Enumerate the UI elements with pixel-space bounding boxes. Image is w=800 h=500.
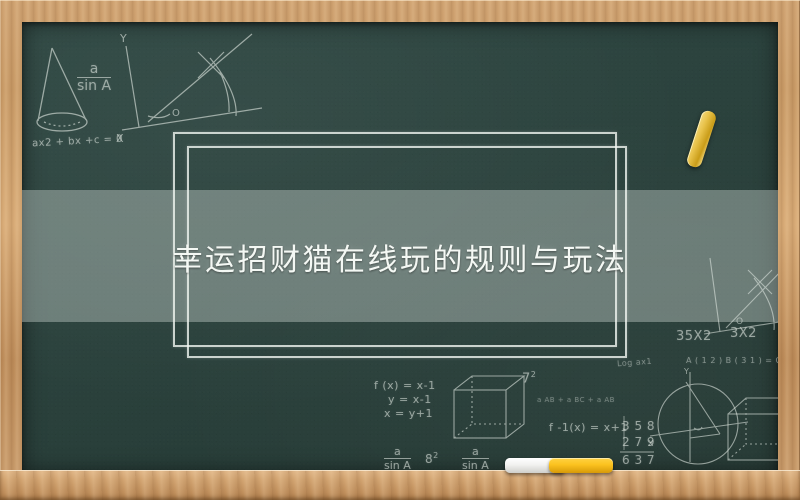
axis-label-y: Y <box>119 32 127 45</box>
chalk-ledge <box>0 470 800 500</box>
formula-log-ax: Log ax1 <box>617 357 653 368</box>
seven-exponent: 2 <box>531 370 537 379</box>
formula-seven-squared: 72 <box>522 370 536 386</box>
fraction-a-over-sinA-3: a sin A <box>462 446 489 472</box>
chalkboard-banner: a sin A Y X O <box>0 0 800 500</box>
fraction-bar <box>384 458 411 459</box>
eight-base: 8 <box>425 452 433 466</box>
angle-label-o: O <box>172 108 180 119</box>
formula-mult-3x2: 3X2 <box>730 326 757 341</box>
formula-function-line3: x = y+1 <box>384 407 433 420</box>
formula-function-line1: f (x) = x-1 <box>374 379 436 392</box>
formula-set-expression: a AB + a BC + a AB <box>537 396 615 404</box>
yellow-chalk-stick[interactable] <box>549 458 613 473</box>
cube-wireframe-left <box>446 372 532 450</box>
formula-matrix-expression: A ( 1 2 ) B ( 3 1 ) = C ( 4 3 ) <box>686 356 778 365</box>
formula-function-line2: y = x-1 <box>388 393 432 406</box>
fraction-a-over-sinA-2: a sin A <box>384 446 411 472</box>
fraction-bar <box>462 458 489 459</box>
cube-wireframe-right <box>722 394 778 470</box>
page-title: 幸运招财猫在线玩的规则与玩法 <box>173 235 628 279</box>
seven-base: 7 <box>522 371 531 386</box>
formula-eight-squared: 82 <box>425 451 439 466</box>
eight-exponent: 2 <box>433 451 439 460</box>
fraction-numerator: a <box>384 446 411 457</box>
axis-label-x-right: X <box>648 439 654 448</box>
title-container: 幸运招财猫在线玩的规则与玩法 <box>22 227 778 287</box>
chalkboard-surface: a sin A Y X O <box>22 22 778 473</box>
formula-mult-35x2: 35X2 <box>676 329 712 344</box>
axis-label-y-right: Y <box>683 367 689 376</box>
fraction-numerator: a <box>462 446 489 457</box>
